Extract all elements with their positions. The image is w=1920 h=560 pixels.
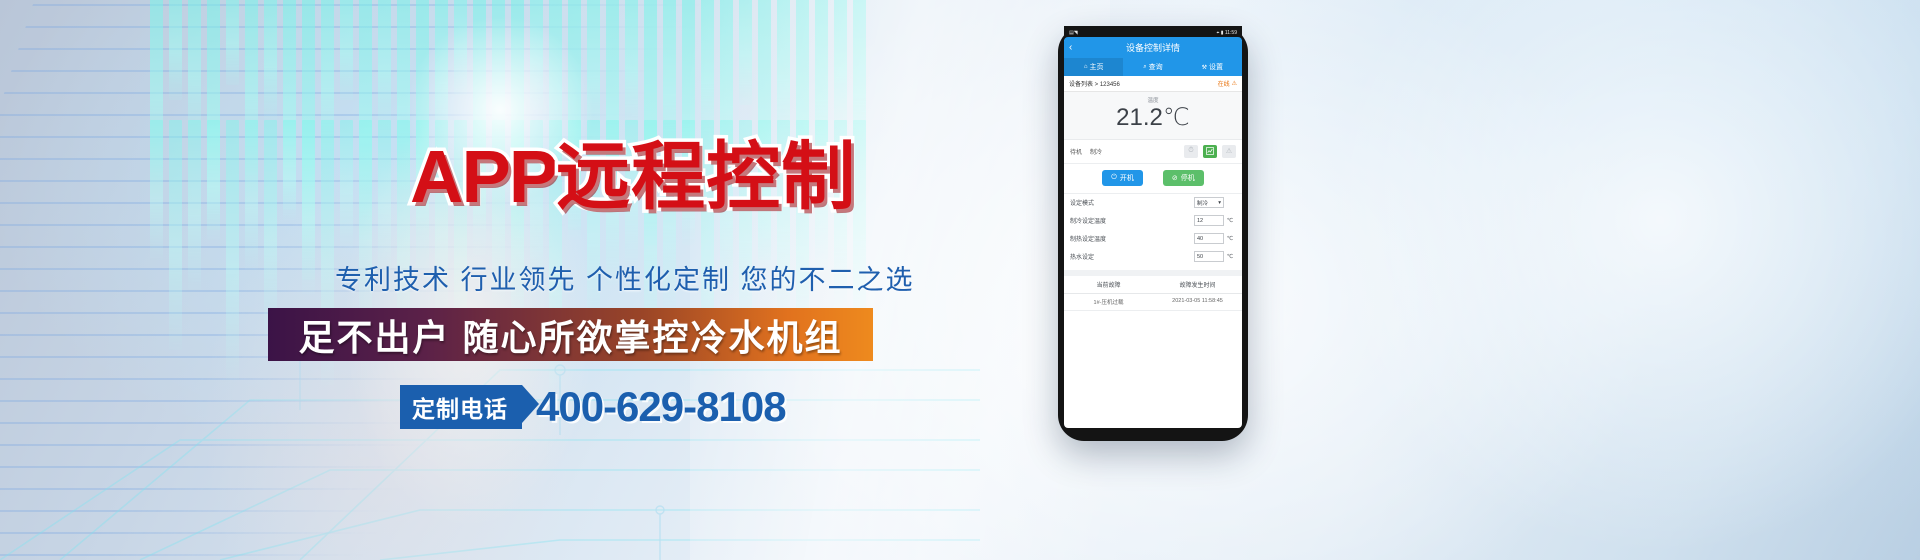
telephone-label: 定制电话 [400, 385, 522, 429]
tab-query[interactable]: ⌕ 查询 [1123, 58, 1182, 76]
ribbon-text: 足不出户 随心所欲掌控冷水机组 [298, 309, 842, 361]
breadcrumb: 设备列表 > 123456 在线 ⚠ [1064, 76, 1242, 92]
phone-screen: ‹ 设备控制详情 ⌂ 主页 ⌕ 查询 ⚒ 设置 设备列表 > 123456 [1064, 37, 1242, 428]
breadcrumb-path[interactable]: 设备列表 > 123456 [1069, 79, 1120, 88]
hotwater-temp-input[interactable]: 50 [1194, 251, 1224, 262]
power-on-label: 开机 [1120, 173, 1134, 183]
fault-cell-time: 2021-03-05 11:58:45 [1153, 298, 1242, 306]
chevron-left-icon[interactable]: ‹ [1069, 43, 1072, 53]
tab-settings[interactable]: ⚒ 设置 [1183, 58, 1242, 76]
action-button-row: ⏻ 开机 ⊘ 停机 [1064, 164, 1242, 194]
wrench-icon: ⚒ [1202, 64, 1207, 71]
chart-icon[interactable] [1203, 145, 1217, 158]
status-badge: 在线 ⚠ [1218, 79, 1237, 88]
chevron-down-icon: ▾ [1218, 200, 1221, 206]
mode-select[interactable]: 制冷 ▾ [1194, 197, 1224, 208]
fault-table-header: 当前故障 故障发生时间 [1064, 276, 1242, 294]
tab-query-label: 查询 [1149, 62, 1163, 72]
power-off-button[interactable]: ⊘ 停机 [1163, 170, 1204, 186]
hero-banner: APP远程控制 专利技术 行业领先 个性化定制 您的不二之选 足不出户 随心所欲… [0, 0, 1920, 560]
telephone-row: 定制电话 400-629-8108 [400, 383, 786, 431]
setting-label-mode: 设定模式 [1070, 198, 1194, 207]
tab-settings-label: 设置 [1209, 62, 1223, 72]
setting-unit-heating-temp: ℃ [1224, 236, 1236, 242]
power-icon: ⏻ [1111, 174, 1117, 182]
temperature-label: 温度 [1064, 96, 1242, 104]
app-header: ‹ 设备控制详情 [1064, 37, 1242, 58]
app-tab-bar: ⌂ 主页 ⌕ 查询 ⚒ 设置 [1064, 58, 1242, 76]
location-icon: ⌖ [1216, 30, 1219, 36]
ribbon-banner: 足不出户 随心所欲掌控冷水机组 [268, 308, 873, 361]
fault-table: 当前故障 故障发生时间 1#-压机过载 2021-03-05 11:58:45 [1064, 270, 1242, 311]
temperature-panel: 温度 21.2℃ [1064, 92, 1242, 140]
telephone-number[interactable]: 400-629-8108 [536, 383, 786, 431]
temperature-value: 21.2℃ [1064, 104, 1242, 132]
power-off-label: 停机 [1181, 173, 1195, 183]
warning-triangle-icon: ⚠ [1232, 80, 1237, 87]
cooling-label: 制冷 [1090, 147, 1102, 156]
icon-button-group: ⏱ ⚠ [1184, 145, 1236, 158]
chart-icon-glyph [1206, 147, 1214, 155]
setting-label-heating-temp: 制热设定温度 [1070, 234, 1194, 243]
power-on-button[interactable]: ⏻ 开机 [1102, 170, 1143, 186]
table-row[interactable]: 1#-压机过载 2021-03-05 11:58:45 [1064, 294, 1242, 311]
headline: APP远程控制 [410, 140, 856, 214]
timer-icon[interactable]: ⏱ [1184, 145, 1198, 158]
right-glow-decoration [1280, 0, 1920, 560]
stop-icon: ⊘ [1172, 174, 1178, 182]
setting-unit-hotwater: ℃ [1224, 254, 1236, 260]
headline-en: APP [410, 135, 556, 218]
status-left-icons: ▤◥ [1069, 30, 1078, 36]
home-icon: ⌂ [1084, 64, 1088, 70]
setting-row-mode: 设定模式 制冷 ▾ [1064, 194, 1242, 212]
alarm-icon[interactable]: ⚠ [1222, 145, 1236, 158]
search-icon: ⌕ [1143, 64, 1146, 71]
status-time: 11:59 [1225, 30, 1237, 36]
setting-label-hotwater: 热水设定 [1070, 252, 1194, 261]
fault-col-current: 当前故障 [1064, 280, 1153, 289]
setting-label-cooling-temp: 制冷设定温度 [1070, 216, 1194, 225]
tab-home[interactable]: ⌂ 主页 [1064, 58, 1123, 76]
standby-label: 待机 [1070, 147, 1082, 156]
status-badge-label: 在线 [1218, 79, 1230, 88]
tab-home-label: 主页 [1089, 62, 1103, 72]
app-title: 设备控制详情 [1064, 41, 1242, 54]
setting-row-heating-temp: 制热设定温度 40 ℃ [1064, 230, 1242, 248]
setting-unit-cooling-temp: ℃ [1224, 218, 1236, 224]
battery-icon: ▮ [1221, 30, 1224, 36]
heating-temp-input[interactable]: 40 [1194, 233, 1224, 244]
mode-select-value: 制冷 [1197, 199, 1208, 207]
setting-row-hotwater: 热水设定 50 ℃ [1064, 248, 1242, 266]
subheadline: 专利技术 行业领先 个性化定制 您的不二之选 [335, 258, 915, 297]
headline-cn: 远程控制 [556, 135, 856, 218]
fault-cell-name: 1#-压机过载 [1064, 298, 1153, 306]
settings-list: 设定模式 制冷 ▾ 制冷设定温度 12 ℃ 制热设定温度 40 ℃ [1064, 194, 1242, 266]
status-right: ⌖ ▮ 11:59 [1216, 30, 1237, 36]
phone-mockup: ▤◥ ⌖ ▮ 11:59 ‹ 设备控制详情 ⌂ 主页 ⌕ 查询 [1058, 26, 1248, 441]
mode-status-row: 待机 制冷 ⏱ ⚠ [1064, 140, 1242, 164]
cooling-temp-input[interactable]: 12 [1194, 215, 1224, 226]
setting-row-cooling-temp: 制冷设定温度 12 ℃ [1064, 212, 1242, 230]
marketing-copy: APP远程控制 专利技术 行业领先 个性化定制 您的不二之选 足不出户 随心所欲… [0, 0, 1000, 560]
fault-col-time: 故障发生时间 [1153, 280, 1242, 289]
